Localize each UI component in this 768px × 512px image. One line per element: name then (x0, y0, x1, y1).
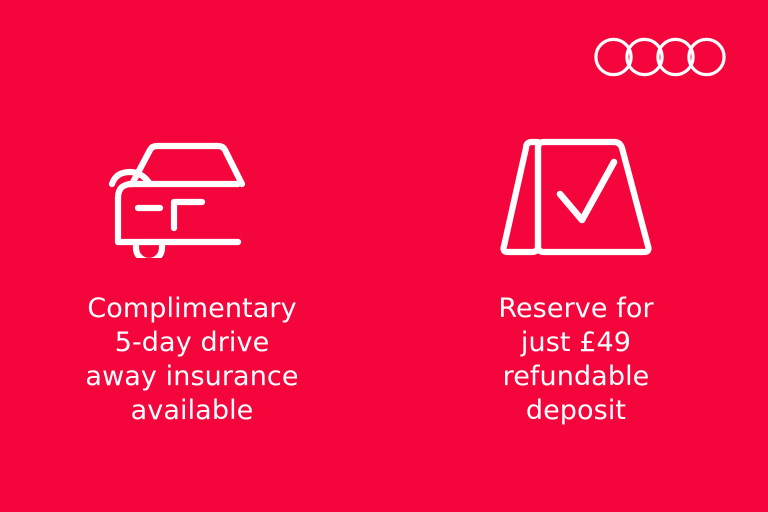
a-frame-sign-check-icon (384, 136, 768, 256)
feature-caption-insurance: Complimentary 5-day drive away insurance… (0, 292, 384, 428)
feature-refundable-deposit: Reserve for just £49 refundable deposit (384, 0, 768, 512)
promo-banner: Complimentary 5-day drive away insurance… (0, 0, 768, 512)
car-shield-icon (0, 136, 384, 256)
feature-complimentary-insurance: Complimentary 5-day drive away insurance… (0, 0, 384, 512)
feature-list: Complimentary 5-day drive away insurance… (0, 0, 768, 512)
feature-caption-deposit: Reserve for just £49 refundable deposit (384, 292, 768, 428)
